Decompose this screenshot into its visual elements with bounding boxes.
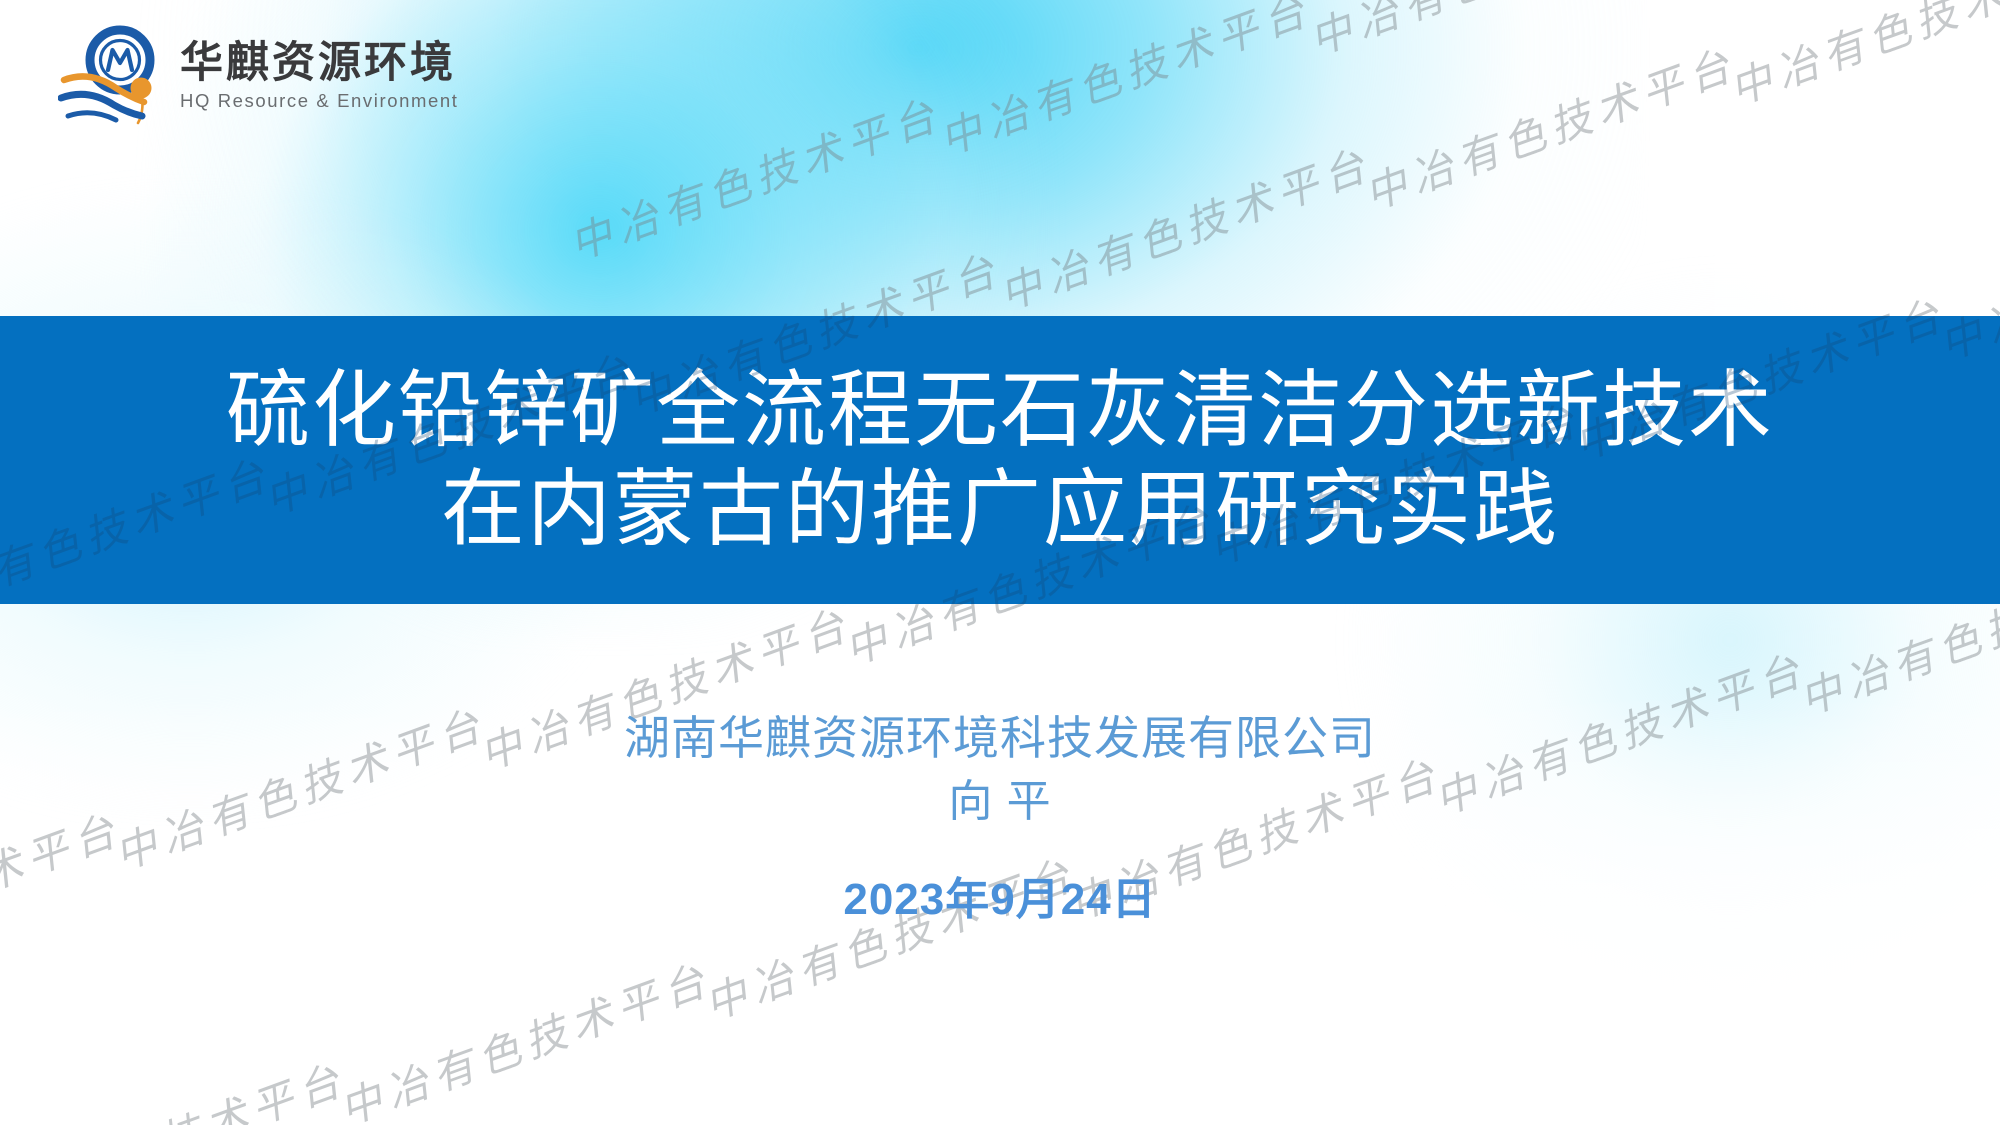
presentation-slide: 中冶有色技术平台中冶有色技术平台中冶有色技术平台中冶有色技术平台中冶有色技术平台… (0, 0, 2000, 1125)
slide-title-line-1: 硫化铅锌矿全流程无石灰清洁分选新技术 (226, 361, 1774, 460)
slide-title-line-2: 在内蒙古的推广应用研究实践 (441, 460, 1559, 559)
presentation-date: 2023年9月24日 (0, 863, 2000, 927)
company-logo: 华麒资源环境 HQ Resource & Environment (58, 18, 478, 133)
background-white-right-fade (1580, 0, 2000, 330)
company-logo-mark-icon (58, 24, 166, 128)
company-name-cn: 华麒资源环境 (180, 41, 459, 86)
organization-name: 湖南华麒资源环境科技发展有限公司 (0, 710, 2000, 768)
title-banner: 硫化铅锌矿全流程无石灰清洁分选新技术 在内蒙古的推广应用研究实践 (0, 316, 2000, 604)
speaker-name: 向 平 (0, 772, 2000, 831)
presenter-block: 湖南华麒资源环境科技发展有限公司 向 平 2023年9月24日 (0, 710, 2000, 927)
company-name-en: HQ Resource & Environment (180, 90, 459, 112)
company-logo-text: 华麒资源环境 HQ Resource & Environment (180, 39, 459, 113)
